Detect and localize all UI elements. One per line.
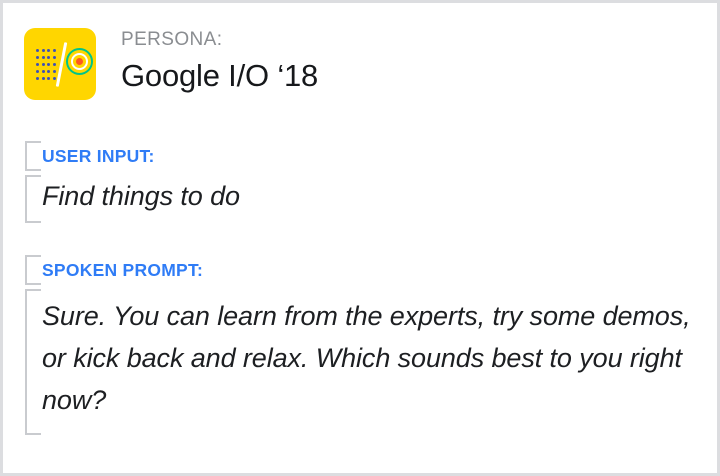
persona-text-block: PERSONA: Google I/O ‘18	[121, 28, 318, 96]
bracket-icon	[25, 289, 39, 435]
bracket-icon	[25, 141, 39, 171]
bracket-icon	[25, 175, 39, 223]
spoken-prompt-text: Sure. You can learn from the experts, tr…	[42, 295, 717, 421]
section-user-input: USER INPUT: Find things to do	[25, 141, 240, 223]
spoken-prompt-body-group: Sure. You can learn from the experts, tr…	[25, 289, 717, 435]
spoken-prompt-label: SPOKEN PROMPT:	[42, 255, 717, 285]
user-input-label: USER INPUT:	[42, 141, 240, 171]
spoken-prompt-label-group: SPOKEN PROMPT:	[25, 255, 717, 285]
bracket-icon	[25, 255, 39, 285]
persona-card: PERSONA: Google I/O ‘18 USER INPUT: Find…	[0, 0, 720, 476]
user-input-text: Find things to do	[42, 175, 240, 217]
logo-dot-grid	[35, 47, 57, 82]
logo-core-dot	[76, 58, 83, 65]
user-input-label-group: USER INPUT:	[25, 141, 240, 171]
persona-label: PERSONA:	[121, 30, 318, 51]
logo-o-icon	[66, 48, 93, 75]
persona-name: Google I/O ‘18	[121, 57, 318, 96]
google-io-logo-icon	[24, 28, 96, 100]
section-spoken-prompt: SPOKEN PROMPT: Sure. You can learn from …	[25, 255, 717, 435]
persona-header: PERSONA: Google I/O ‘18	[24, 28, 318, 100]
user-input-body-group: Find things to do	[25, 175, 240, 223]
